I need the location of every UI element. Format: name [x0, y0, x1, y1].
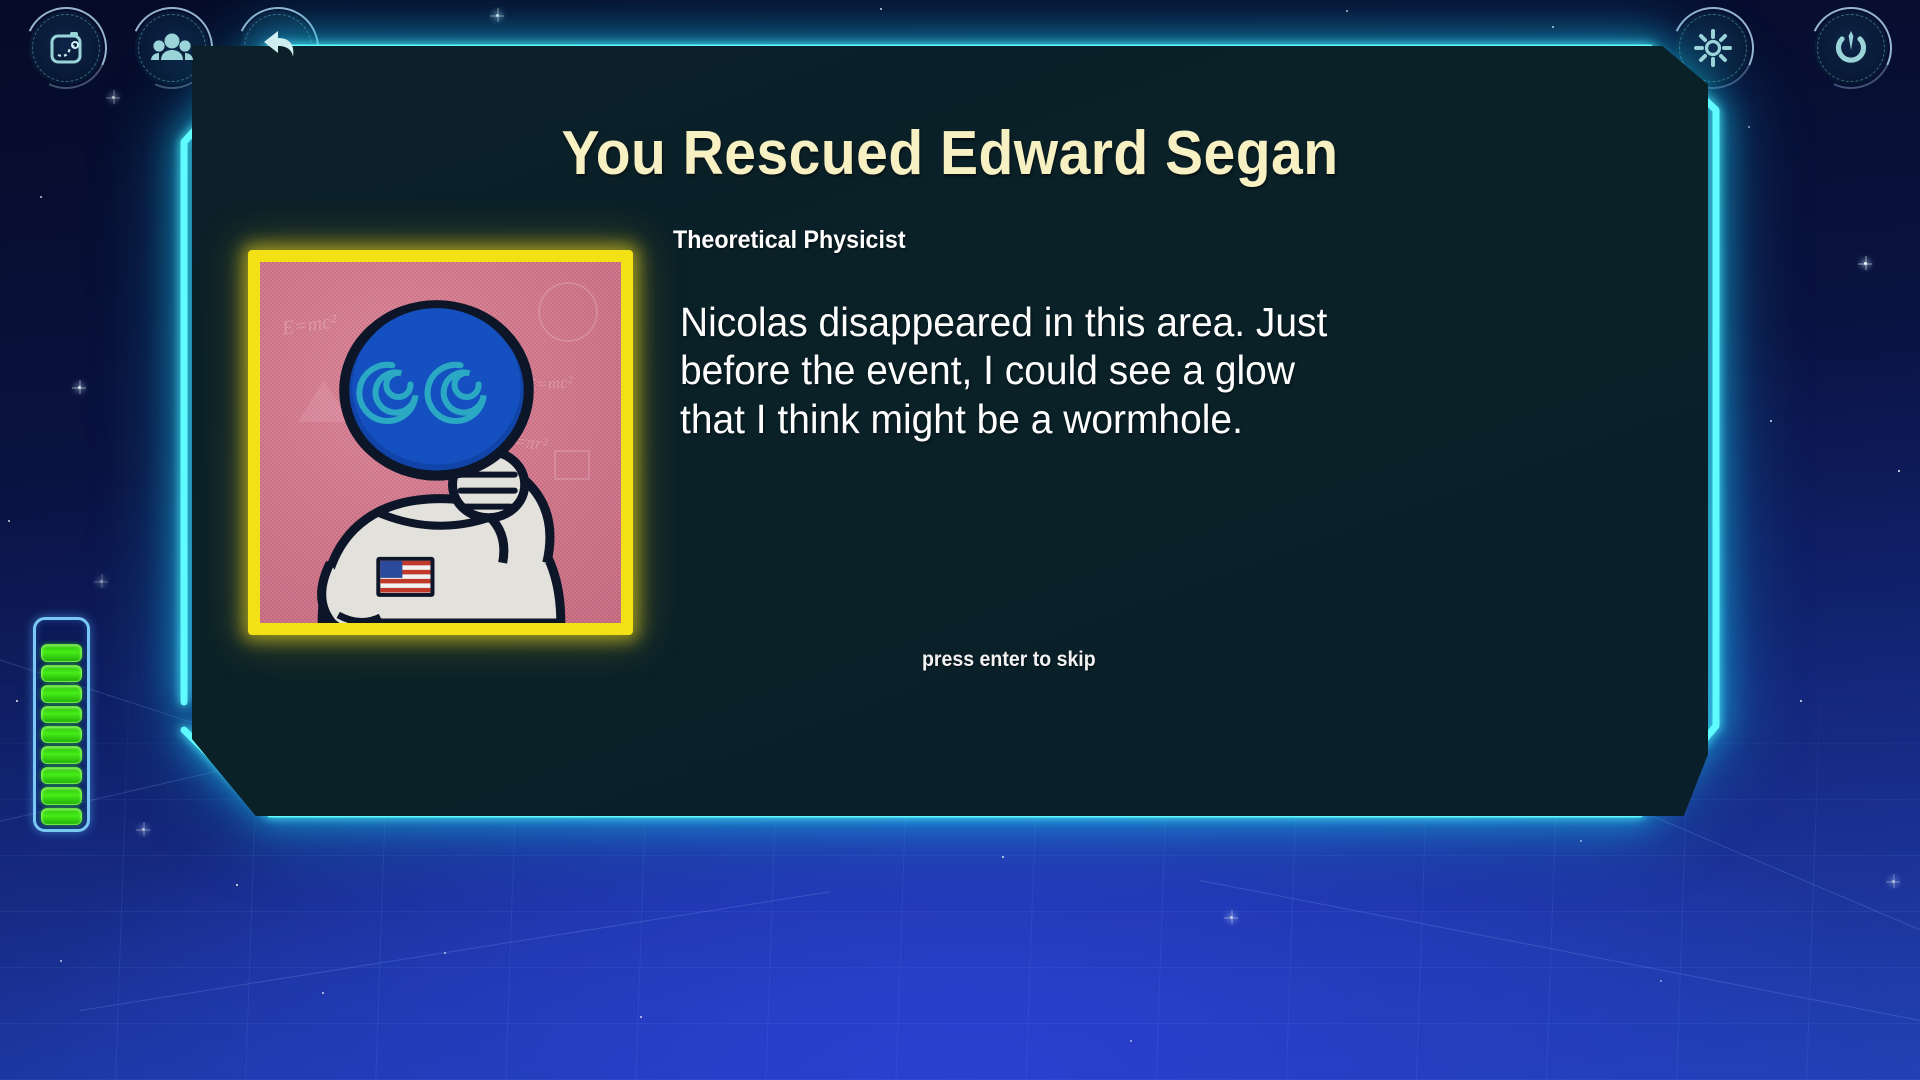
battery-cell [41, 665, 82, 682]
battery-cell [41, 746, 82, 763]
character-role: Theoretical Physicist [673, 226, 906, 255]
battery-cell [41, 644, 82, 661]
battery-cell [41, 808, 82, 825]
battery-cell [41, 706, 82, 723]
astronaut-illustration [260, 262, 621, 623]
portrait-canvas: E=mc² A=πr² E=mc² [260, 262, 621, 623]
energy-battery-gauge[interactable] [33, 617, 90, 832]
map-button[interactable] [29, 11, 103, 85]
power-icon [1831, 28, 1871, 68]
battery-cell [41, 685, 82, 702]
undo-arrow-icon [257, 29, 299, 67]
page-title: You Rescued Edward Segan [232, 118, 1667, 189]
dialogue-text: Nicolas disappeared in this area. Just b… [680, 298, 1345, 443]
dialogue-panel: You Rescued Edward Segan Theoretical Phy… [170, 26, 1730, 836]
power-button[interactable] [1814, 11, 1888, 85]
battery-cell [41, 726, 82, 743]
battery-cell-empty [41, 624, 82, 641]
skip-hint[interactable]: press enter to skip [922, 648, 1096, 672]
gear-icon [1694, 29, 1732, 67]
battery-cell [41, 767, 82, 784]
character-portrait: E=mc² A=πr² E=mc² [248, 250, 633, 635]
map-icon [46, 28, 86, 68]
people-icon [150, 28, 194, 68]
battery-cell [41, 787, 82, 804]
